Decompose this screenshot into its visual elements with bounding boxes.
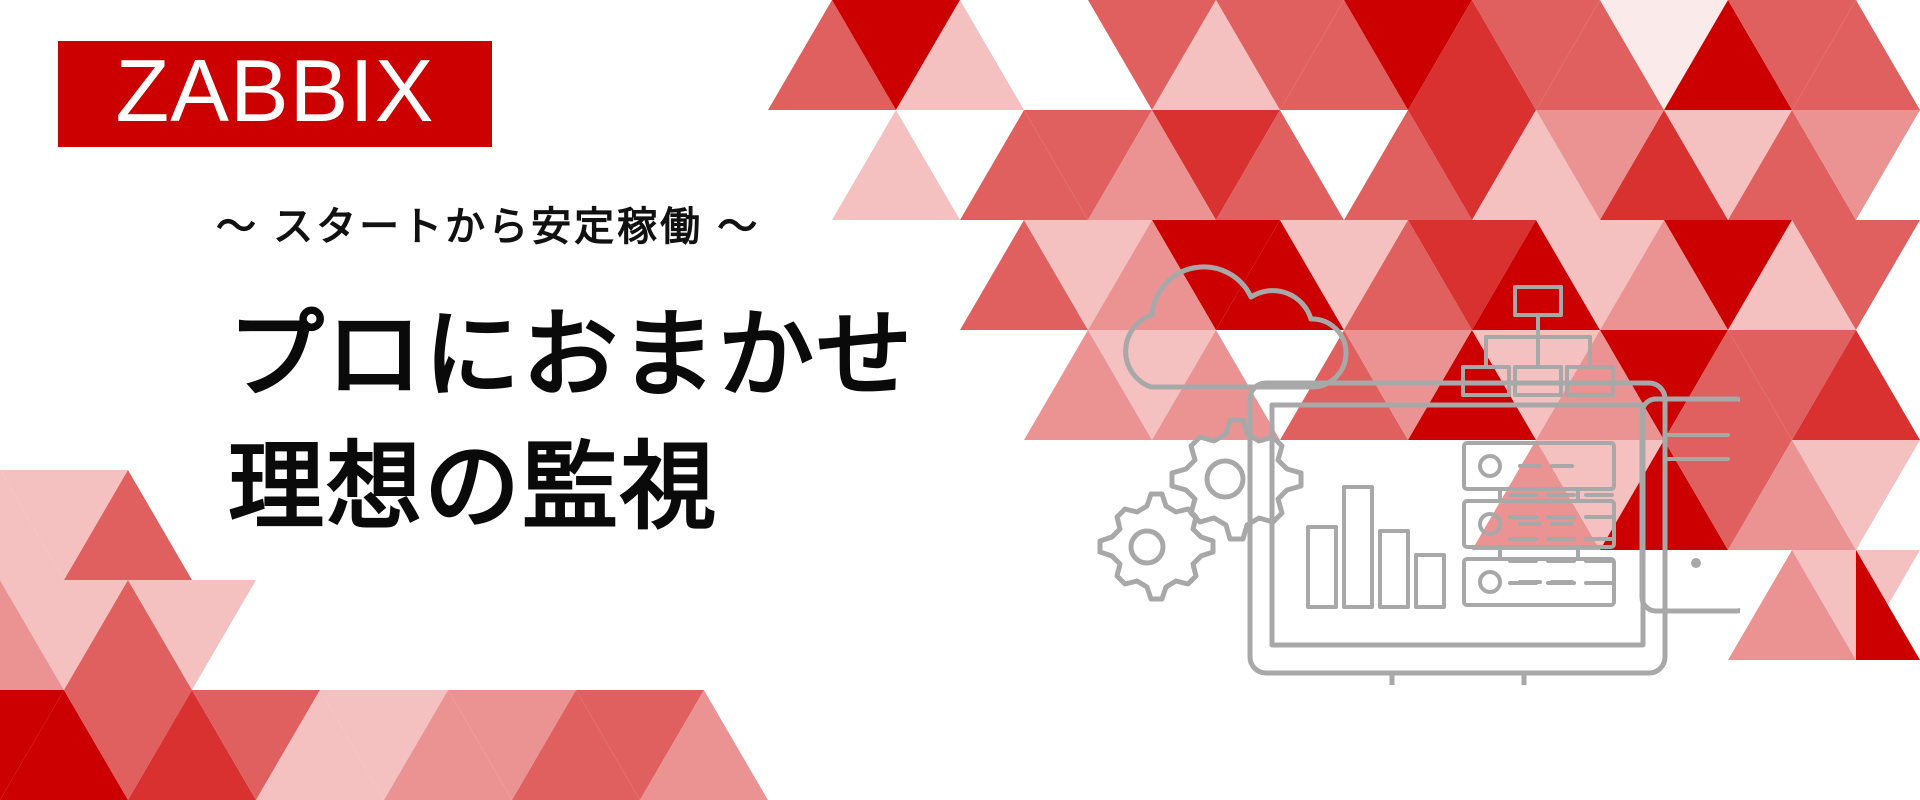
cloud-icon xyxy=(1126,267,1346,387)
tagline: 〜 スタートから安定稼働 〜 xyxy=(216,203,760,251)
headline-line-1: プロにおまかせ xyxy=(228,290,914,422)
monitoring-illustration xyxy=(1020,255,1740,685)
dashboard-bar-chart xyxy=(1308,487,1444,607)
zabbix-hero-banner: ZABBIX 〜 スタートから安定稼働 〜 プロにおまかせ 理想の監視 xyxy=(0,0,1920,800)
tower-pc-icon xyxy=(1642,399,1740,611)
rack-servers-icon xyxy=(1464,443,1614,605)
dashboard-text-rows xyxy=(1510,495,1612,583)
headline-line-2: 理想の監視 xyxy=(228,422,914,554)
network-tree-icon xyxy=(1463,287,1613,395)
page-title: プロにおまかせ 理想の監視 xyxy=(228,290,914,555)
monitor-icon xyxy=(1250,383,1665,685)
zabbix-logo: ZABBIX xyxy=(58,41,492,147)
gear-large-icon xyxy=(1172,420,1301,539)
gear-small-icon xyxy=(1100,494,1213,599)
zabbix-logo-text: ZABBIX xyxy=(116,47,435,135)
